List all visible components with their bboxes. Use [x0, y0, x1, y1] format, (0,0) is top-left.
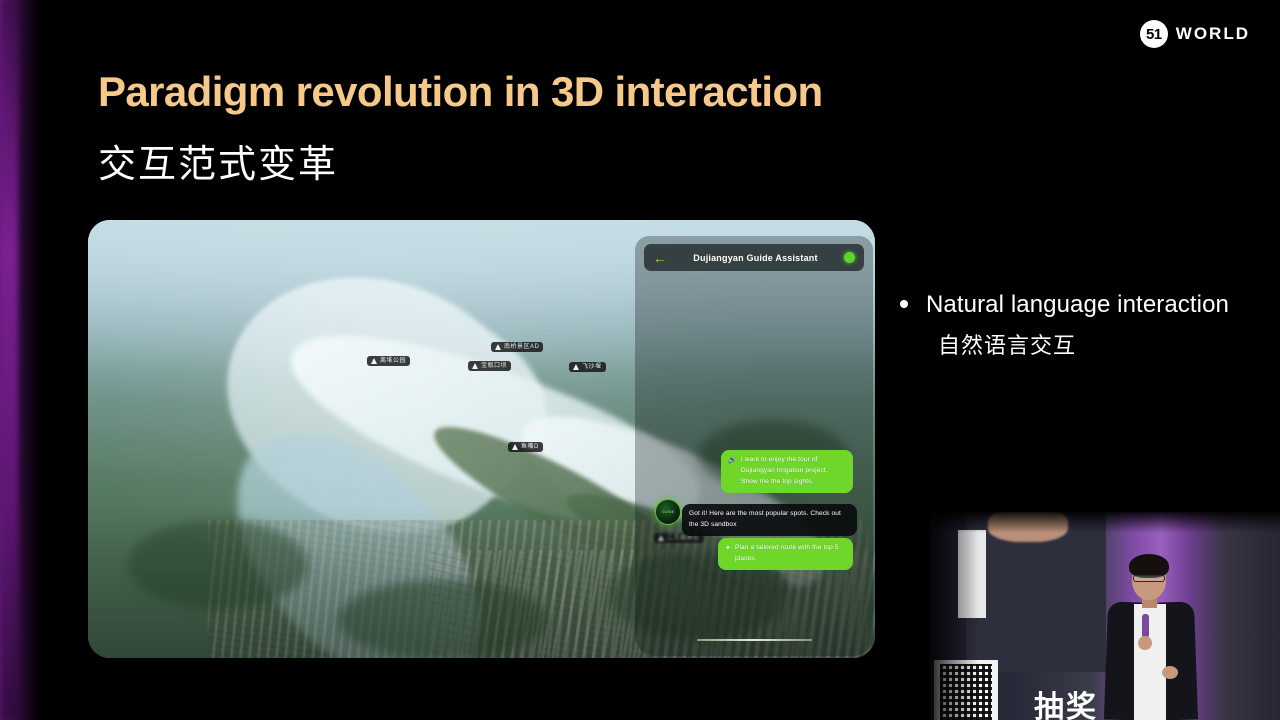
chat-message-text: Got it! Here are the most popular spots.…: [689, 510, 841, 528]
left-purple-glow: [0, 0, 46, 720]
bullet-dot-icon: [900, 300, 908, 308]
assistant-avatar-label: GUIDE: [662, 510, 675, 514]
stage-white-banner: [958, 530, 986, 618]
microphone-icon: [1142, 614, 1149, 638]
map-pin-icon: [371, 358, 377, 364]
bullet-text-en: Natural language interaction: [926, 288, 1229, 322]
presenter-video-inset: 抽奖: [930, 512, 1280, 720]
chat-header: ← Dujiangyan Guide Assistant: [644, 244, 864, 271]
chat-message-user: ✦ Plan a tailored route with the top 5 p…: [718, 538, 853, 570]
assistant-avatar: GUIDE: [655, 499, 681, 525]
slide-root: 51 WORLD Paradigm revolution in 3D inter…: [0, 0, 1280, 720]
map-poi-label: 飞沙堰: [582, 364, 602, 370]
chat-assistant-panel: ← Dujiangyan Guide Assistant 🔊 I want to…: [635, 236, 873, 656]
presenter-hand-right: [1162, 666, 1178, 679]
bullet-text-zh: 自然语言交互: [938, 328, 1229, 360]
logo-wordmark: WORLD: [1176, 24, 1250, 44]
map-poi-label: 鱼嘴D: [521, 444, 539, 450]
map-poi-marker[interactable]: 宝瓶口坝: [468, 361, 511, 371]
map-poi-marker[interactable]: 鱼嘴D: [508, 442, 543, 452]
map-pin-icon: [495, 344, 501, 350]
map-poi-label: 离堆公园: [380, 358, 406, 364]
map-poi-marker[interactable]: 南桥景区AD: [491, 342, 543, 352]
back-arrow-icon[interactable]: ←: [653, 251, 667, 265]
brand-logo: 51 WORLD: [1140, 20, 1250, 48]
left-purple-glow-inner: [0, 0, 18, 720]
sparkle-icon: ✦: [725, 543, 731, 554]
page-title-zh: 交互范式变革: [98, 133, 338, 188]
home-indicator[interactable]: [697, 639, 812, 641]
qr-code-icon: [940, 664, 992, 720]
status-indicator-dot: [844, 252, 855, 263]
list-item: Natural language interaction 自然语言交互: [900, 288, 1230, 360]
bullet-list: Natural language interaction 自然语言交互: [900, 288, 1230, 360]
map-poi-marker[interactable]: 离堆公园: [367, 356, 410, 366]
chat-message-user: 🔊 I want to enjoy the tour of Dujiangyan…: [721, 450, 853, 493]
presenter-hand-left: [1138, 636, 1152, 650]
glasses-icon: [1133, 575, 1165, 582]
lottery-caption: 抽奖: [1034, 682, 1098, 720]
chat-title: Dujiangyan Guide Assistant: [667, 253, 844, 263]
logo-mark-icon: 51: [1140, 20, 1168, 48]
map-pin-icon: [472, 363, 478, 369]
chat-message-assistant: Got it! Here are the most popular spots.…: [682, 504, 857, 536]
map-poi-marker[interactable]: 飞沙堰: [569, 362, 606, 372]
chat-message-text: I want to enjoy the tour of Dujiangyan I…: [741, 455, 846, 488]
map-poi-label: 宝瓶口坝: [481, 363, 507, 369]
map-pin-icon: [573, 364, 579, 370]
hand-silhouette: [988, 512, 1068, 542]
speaker-icon: 🔊: [728, 455, 737, 466]
page-title-en: Paradigm revolution in 3D interaction: [98, 68, 823, 116]
map-poi-label: 南桥景区AD: [504, 344, 539, 350]
presenter-figure: [1098, 552, 1202, 720]
presenter-shirt: [1134, 604, 1166, 720]
chat-message-text: Plan a tailored route with the top 5 pla…: [735, 543, 846, 565]
map-pin-icon: [512, 444, 518, 450]
